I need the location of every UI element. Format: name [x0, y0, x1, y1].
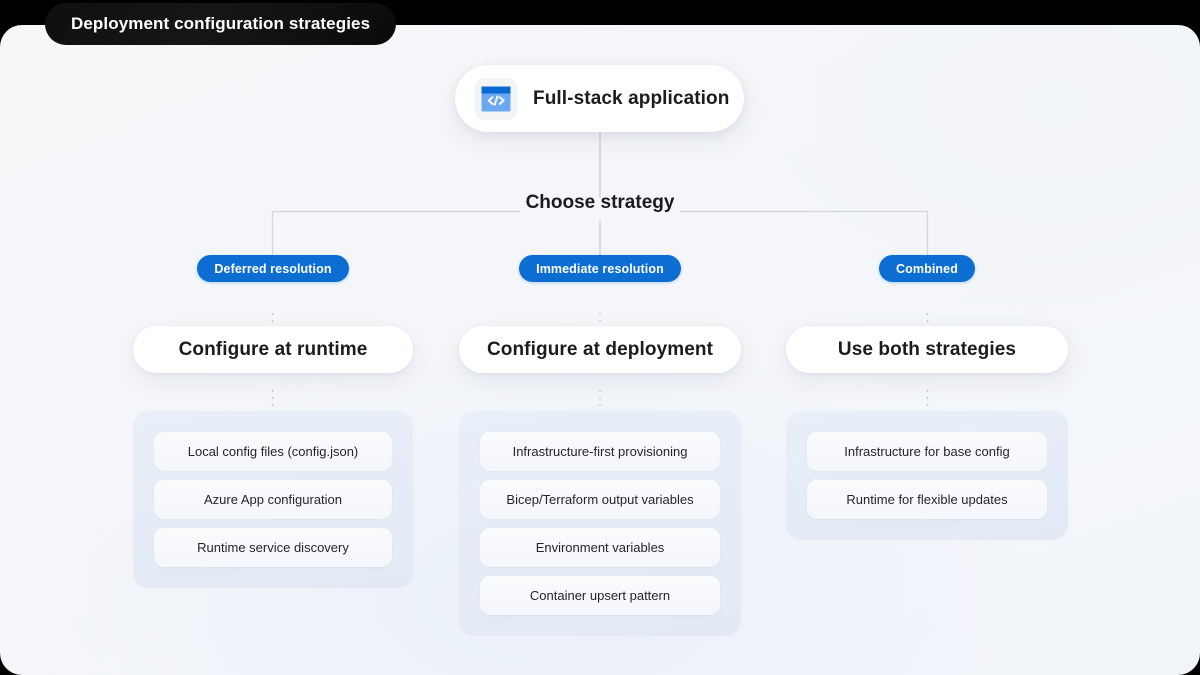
decision-label: Choose strategy	[0, 192, 1200, 214]
list-item[interactable]: Local config files (config.json)	[154, 432, 392, 471]
branch-item-panel: Infrastructure for base config Runtime f…	[786, 411, 1068, 540]
branch-column-immediate-resolution: Immediate resolution Configure at deploy…	[459, 255, 741, 636]
list-item[interactable]: Infrastructure-first provisioning	[480, 432, 720, 471]
title-badge: Deployment configuration strategies	[45, 3, 396, 45]
branch-heading-card[interactable]: Configure at deployment	[459, 326, 741, 373]
list-item[interactable]: Container upsert pattern	[480, 576, 720, 615]
branch-badge[interactable]: Immediate resolution	[519, 255, 681, 282]
list-item[interactable]: Azure App configuration	[154, 480, 392, 519]
diagram-canvas: Full-stack application Choose strategy D…	[0, 25, 1200, 675]
root-node-label: Full-stack application	[533, 88, 729, 110]
list-item[interactable]: Bicep/Terraform output variables	[480, 480, 720, 519]
branch-heading-card[interactable]: Configure at runtime	[133, 326, 413, 373]
branch-column-deferred-resolution: Deferred resolution Configure at runtime…	[133, 255, 413, 588]
root-node-full-stack-application[interactable]: Full-stack application	[455, 65, 744, 132]
decision-label-text: Choose strategy	[512, 192, 689, 213]
title-badge-label: Deployment configuration strategies	[71, 14, 370, 34]
list-item[interactable]: Runtime for flexible updates	[807, 480, 1047, 519]
branch-column-combined: Combined Use both strategies Infrastruct…	[786, 255, 1068, 540]
list-item[interactable]: Runtime service discovery	[154, 528, 392, 567]
screenshot-frame: Full-stack application Choose strategy D…	[0, 0, 1200, 675]
branch-badge[interactable]: Deferred resolution	[197, 255, 348, 282]
branch-item-panel: Infrastructure-first provisioning Bicep/…	[459, 411, 741, 636]
list-item[interactable]: Environment variables	[480, 528, 720, 567]
branch-item-panel: Local config files (config.json) Azure A…	[133, 411, 413, 588]
branch-heading-card[interactable]: Use both strategies	[786, 326, 1068, 373]
code-window-icon	[475, 78, 517, 120]
list-item[interactable]: Infrastructure for base config	[807, 432, 1047, 471]
branch-badge[interactable]: Combined	[879, 255, 975, 282]
